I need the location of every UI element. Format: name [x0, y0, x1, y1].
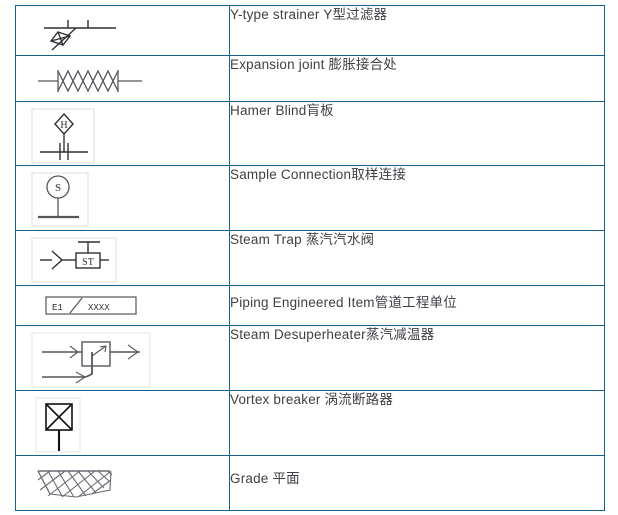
hammer-blind-symbol: H [16, 102, 229, 164]
table-row: Expansion joint 膨胀接合处 [16, 56, 605, 102]
row-label: Vortex breaker 涡流断路器 [230, 392, 393, 407]
y-type-strainer-symbol [16, 6, 229, 54]
symbol-cell [16, 56, 230, 102]
table-row: Y-type strainer Y型过滤器 [16, 6, 605, 56]
expansion-joint-symbol [16, 56, 229, 100]
row-label: Grade 平面 [230, 471, 300, 486]
steam-desuperheater-symbol [16, 326, 229, 388]
description-cell: Sample Connection取样连接 [230, 166, 605, 231]
table-row: H Hamer Blind肓板 [16, 102, 605, 166]
table-row: Vortex breaker 涡流断路器 [16, 391, 605, 456]
description-cell: Steam Desuperheater蒸汽减温器 [230, 326, 605, 391]
symbol-cell: ST [16, 231, 230, 286]
symbol-cell: H [16, 102, 230, 166]
sample-connection-symbol: S [16, 166, 229, 227]
description-cell: Y-type strainer Y型过滤器 [230, 6, 605, 56]
piping-engineered-item-symbol: E1 XXXX [16, 286, 229, 318]
steam-trap-tag: ST [82, 257, 94, 268]
row-label: Steam Desuperheater蒸汽减温器 [230, 327, 434, 342]
description-cell: Hamer Blind肓板 [230, 102, 605, 166]
description-cell: Expansion joint 膨胀接合处 [230, 56, 605, 102]
row-label: Hamer Blind肓板 [230, 103, 334, 118]
table-row: Grade 平面 [16, 456, 605, 511]
vortex-breaker-symbol [16, 391, 229, 453]
symbol-cell [16, 456, 230, 511]
description-cell: Grade 平面 [230, 456, 605, 511]
description-cell: Piping Engineered Item管道工程单位 [230, 286, 605, 326]
table-row: S Sample Connection取样连接 [16, 166, 605, 231]
symbol-cell [16, 326, 230, 391]
symbol-legend-table: Y-type strainer Y型过滤器 [15, 5, 605, 511]
row-label: Y-type strainer Y型过滤器 [230, 7, 387, 22]
description-cell: Steam Trap 蒸汽汽水阀 [230, 231, 605, 286]
table-row: E1 XXXX Piping Engineered Item管道工程单位 [16, 286, 605, 326]
grade-symbol [16, 456, 229, 504]
symbol-cell [16, 391, 230, 456]
symbol-cell: S [16, 166, 230, 231]
piping-item-tag-left: E1 [52, 303, 63, 313]
steam-trap-symbol: ST [16, 231, 229, 283]
table-row: ST Steam Trap 蒸汽汽水阀 [16, 231, 605, 286]
table-row: Steam Desuperheater蒸汽减温器 [16, 326, 605, 391]
row-label: Sample Connection取样连接 [230, 167, 406, 182]
description-cell: Vortex breaker 涡流断路器 [230, 391, 605, 456]
symbol-cell [16, 6, 230, 56]
symbol-cell: E1 XXXX [16, 286, 230, 326]
row-label: Steam Trap 蒸汽汽水阀 [230, 232, 374, 247]
row-label: Expansion joint 膨胀接合处 [230, 57, 397, 72]
sample-connection-tag: S [55, 182, 61, 194]
hammer-blind-tag: H [60, 120, 67, 131]
piping-item-tag-right: XXXX [88, 303, 110, 313]
row-label: Piping Engineered Item管道工程单位 [230, 295, 457, 310]
